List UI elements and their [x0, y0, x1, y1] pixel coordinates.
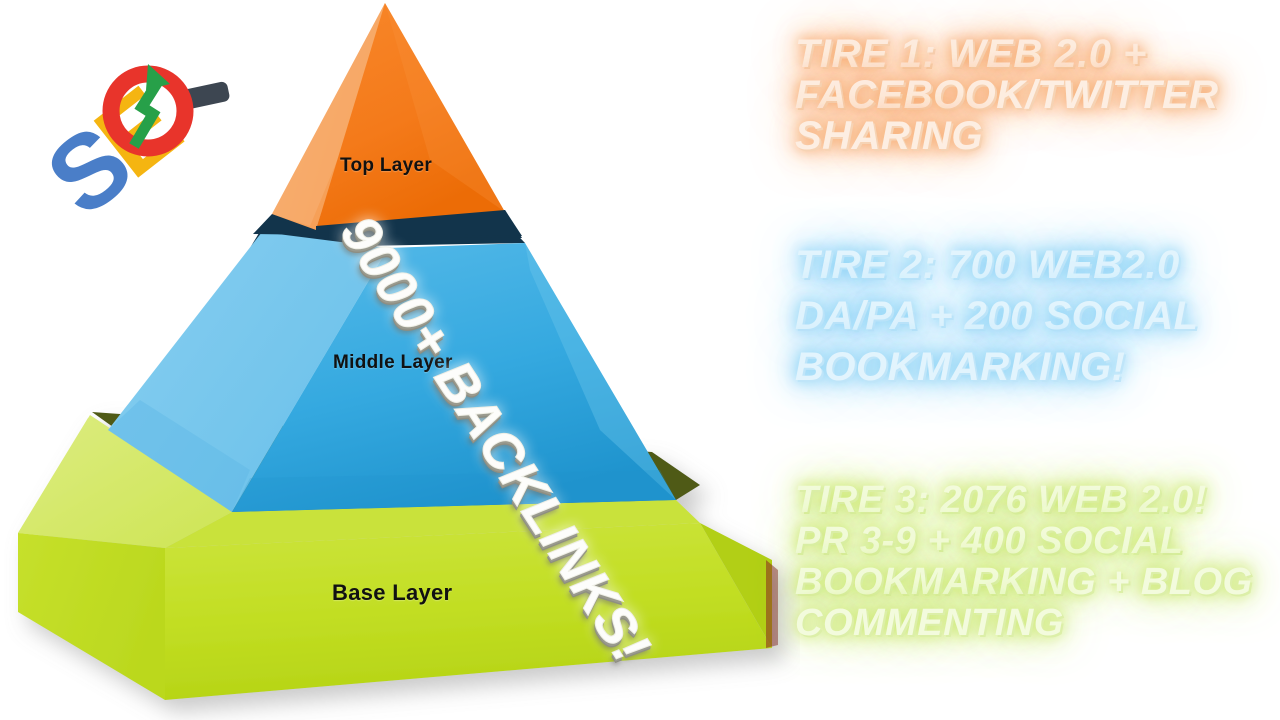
- tier-3-line-2: PR 3-9 + 400 Social: [795, 521, 1265, 562]
- tier-2-line-1: Tire 2: 700 Web2.0: [795, 240, 1265, 291]
- pyramid-label-top: Top Layer: [340, 155, 432, 177]
- pyramid-layer-top: [253, 3, 522, 238]
- tier-2-line-3: Bookmarking!: [795, 342, 1265, 393]
- pyramid-label-base: Base Layer: [332, 580, 452, 606]
- tier-3-text: Tire 3: 2076 Web 2.0! PR 3-9 + 400 Socia…: [795, 480, 1265, 644]
- tier-1-line-3: Sharing: [795, 116, 1265, 157]
- tier-1-text: Tire 1: Web 2.0 + Facebook/Twitter Shari…: [795, 34, 1265, 156]
- tier-2-line-2: DA/PA + 200 Social: [795, 291, 1265, 342]
- tier-3-line-4: Commenting: [795, 603, 1265, 644]
- tier-3-line-1: Tire 3: 2076 Web 2.0!: [795, 480, 1265, 521]
- tier-1-line-1: Tire 1: Web 2.0 +: [795, 34, 1265, 75]
- tier-1-line-2: Facebook/Twitter: [795, 75, 1265, 116]
- tier-3-line-3: Bookmarking + Blog: [795, 562, 1265, 603]
- pyramid-diagram: Top Layer Middle Layer Base Layer: [0, 0, 800, 720]
- tier-2-text: Tire 2: 700 Web2.0 DA/PA + 200 Social Bo…: [795, 240, 1265, 394]
- poster-canvas: S E: [0, 0, 1280, 720]
